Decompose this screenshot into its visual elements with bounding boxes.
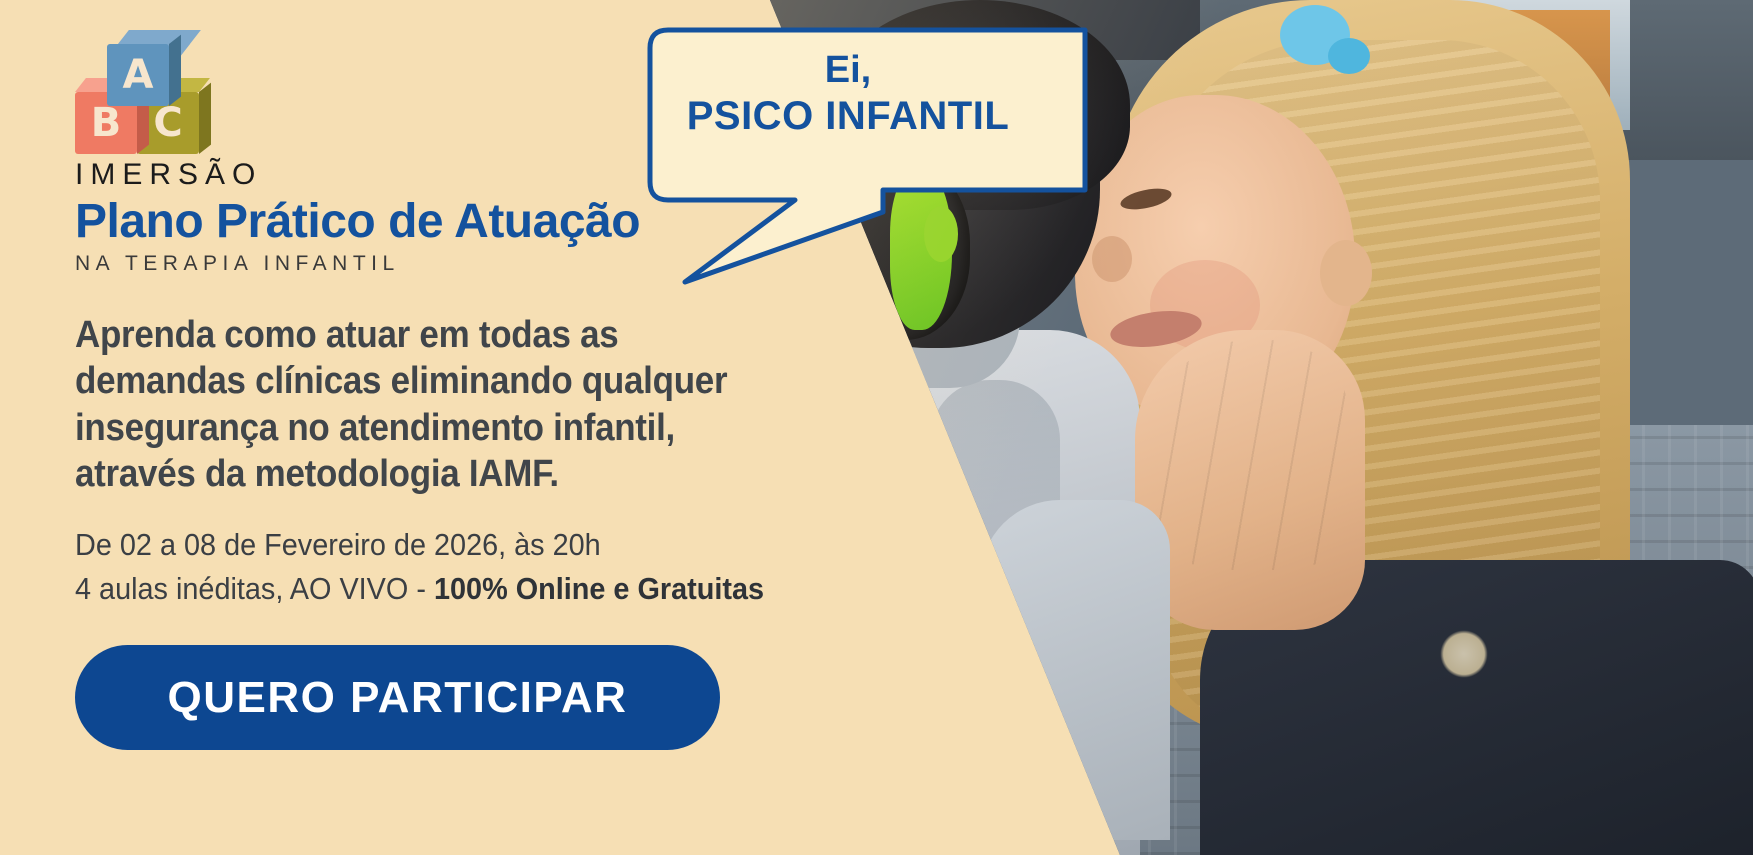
block-a-letter: A xyxy=(107,44,169,106)
girl-hair-clip-secondary xyxy=(1328,38,1370,74)
lead-line-1: Aprenda como atuar em todas as xyxy=(75,312,829,358)
lead-line-3: insegurança no atendimento infantil, xyxy=(75,405,829,451)
event-details: De 02 a 08 de Fevereiro de 2026, às 20h … xyxy=(75,523,875,611)
speech-bubble: Ei, PSICO INFANTIL xyxy=(625,12,1105,312)
block-a: A xyxy=(107,30,179,108)
quero-participar-button[interactable]: QUERO PARTICIPAR xyxy=(75,645,720,750)
event-classes-highlight: 100% Online e Gratuitas xyxy=(434,571,764,606)
girl-ear xyxy=(1320,240,1372,306)
event-classes-line: 4 aulas inéditas, AO VIVO - 100% Online … xyxy=(75,567,875,611)
event-date-line: De 02 a 08 de Fevereiro de 2026, às 20h xyxy=(75,523,875,567)
floor-flower-detail xyxy=(1440,630,1488,678)
girl-fingers xyxy=(1150,340,1350,570)
promo-banner: Ei, PSICO INFANTIL C B A xyxy=(0,0,1753,855)
lead-line-4: através da metodologia IAMF. xyxy=(75,451,829,497)
speech-bubble-shape xyxy=(625,12,1105,312)
abc-blocks-logo: C B A xyxy=(75,30,205,140)
lead-paragraph: Aprenda como atuar em todas as demandas … xyxy=(75,312,829,497)
lead-line-2: demandas clínicas eliminando qualquer xyxy=(75,358,829,404)
event-classes-prefix: 4 aulas inéditas, AO VIVO - xyxy=(75,571,434,606)
boy-arm xyxy=(980,500,1170,840)
block-c-side xyxy=(199,83,211,154)
